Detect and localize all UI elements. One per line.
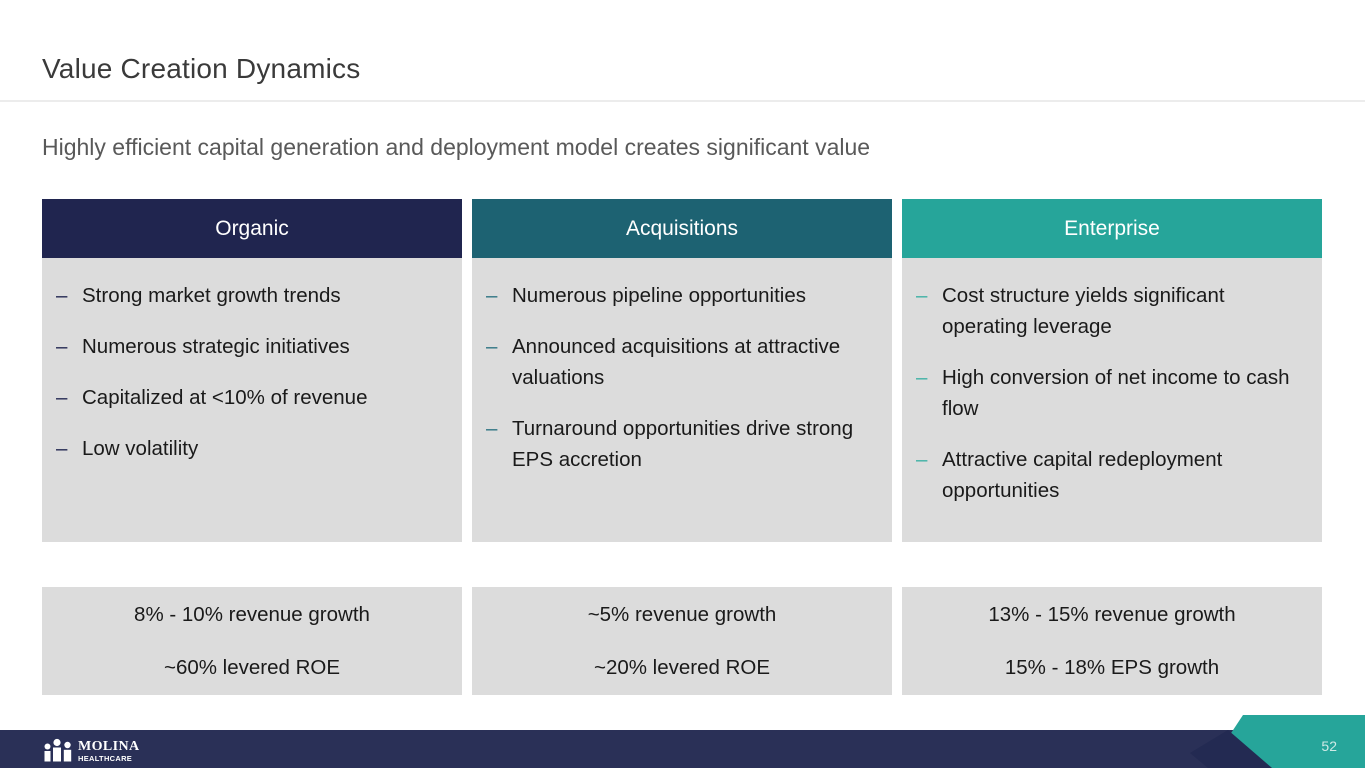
columns-container: Organic – Strong market growth trends – …	[42, 199, 1322, 542]
column-body-acquisitions: – Numerous pipeline opportunities – Anno…	[472, 258, 892, 542]
stat-line: ~5% revenue growth	[588, 601, 777, 629]
slide-root: Value Creation Dynamics Highly efficient…	[0, 0, 1365, 768]
column-header-enterprise: Enterprise	[902, 199, 1322, 258]
stat-line: 8% - 10% revenue growth	[134, 601, 370, 629]
column-header-acquisitions: Acquisitions	[472, 199, 892, 258]
list-item-label: High conversion of net income to cash fl…	[942, 362, 1308, 424]
dash-marker-icon: –	[916, 362, 942, 393]
list-item-label: Announced acquisitions at attractive val…	[512, 331, 878, 393]
list-item: – Strong market growth trends	[56, 280, 448, 311]
title-divider	[0, 100, 1365, 102]
list-item-label: Low volatility	[82, 433, 448, 464]
logo-name: MOLINA	[78, 740, 140, 754]
list-item: – Numerous strategic initiatives	[56, 331, 448, 362]
list-item: – Capitalized at <10% of revenue	[56, 382, 448, 413]
stat-line: ~60% levered ROE	[164, 654, 340, 682]
page-number: 52	[1321, 738, 1337, 754]
dash-marker-icon: –	[486, 280, 512, 311]
column-organic: Organic – Strong market growth trends – …	[42, 199, 462, 542]
footer-bar	[0, 730, 1365, 768]
column-body-enterprise: – Cost structure yields significant oper…	[902, 258, 1322, 542]
list-item-label: Attractive capital redeployment opportun…	[942, 444, 1308, 506]
column-acquisitions: Acquisitions – Numerous pipeline opportu…	[472, 199, 892, 542]
dash-marker-icon: –	[916, 280, 942, 311]
dash-marker-icon: –	[56, 433, 82, 464]
stat-line: 13% - 15% revenue growth	[988, 601, 1235, 629]
list-item-label: Cost structure yields significant operat…	[942, 280, 1308, 342]
stat-line: ~20% levered ROE	[594, 654, 770, 682]
column-body-organic: – Strong market growth trends – Numerous…	[42, 258, 462, 542]
column-header-organic: Organic	[42, 199, 462, 258]
stat-box-organic: 8% - 10% revenue growth ~60% levered ROE	[42, 587, 462, 695]
stat-line: 15% - 18% EPS growth	[1005, 654, 1219, 682]
column-enterprise: Enterprise – Cost structure yields signi…	[902, 199, 1322, 542]
stats-container: 8% - 10% revenue growth ~60% levered ROE…	[42, 587, 1322, 695]
list-item-label: Numerous strategic initiatives	[82, 331, 448, 362]
dash-marker-icon: –	[486, 331, 512, 362]
dash-marker-icon: –	[916, 444, 942, 475]
list-item: – Numerous pipeline opportunities	[486, 280, 878, 311]
list-item: – Low volatility	[56, 433, 448, 464]
page-title: Value Creation Dynamics	[42, 53, 360, 85]
list-item: – Cost structure yields significant oper…	[916, 280, 1308, 342]
logo-tagline: HEALTHCARE	[78, 755, 140, 763]
list-item-label: Turnaround opportunities drive strong EP…	[512, 413, 878, 475]
page-subtitle: Highly efficient capital generation and …	[42, 134, 870, 161]
list-item: – Announced acquisitions at attractive v…	[486, 331, 878, 393]
stat-box-acquisitions: ~5% revenue growth ~20% levered ROE	[472, 587, 892, 695]
molina-people-icon	[42, 738, 75, 762]
dash-marker-icon: –	[56, 331, 82, 362]
dash-marker-icon: –	[56, 280, 82, 311]
list-item-label: Numerous pipeline opportunities	[512, 280, 878, 311]
stat-box-enterprise: 13% - 15% revenue growth 15% - 18% EPS g…	[902, 587, 1322, 695]
list-item: – Attractive capital redeployment opport…	[916, 444, 1308, 506]
dash-marker-icon: –	[56, 382, 82, 413]
list-item-label: Strong market growth trends	[82, 280, 448, 311]
logo-wordmark: MOLINA HEALTHCARE	[78, 740, 140, 763]
list-item-label: Capitalized at <10% of revenue	[82, 382, 448, 413]
dash-marker-icon: –	[486, 413, 512, 444]
list-item: – High conversion of net income to cash …	[916, 362, 1308, 424]
list-item: – Turnaround opportunities drive strong …	[486, 413, 878, 475]
logo: MOLINA HEALTHCARE	[42, 736, 140, 762]
